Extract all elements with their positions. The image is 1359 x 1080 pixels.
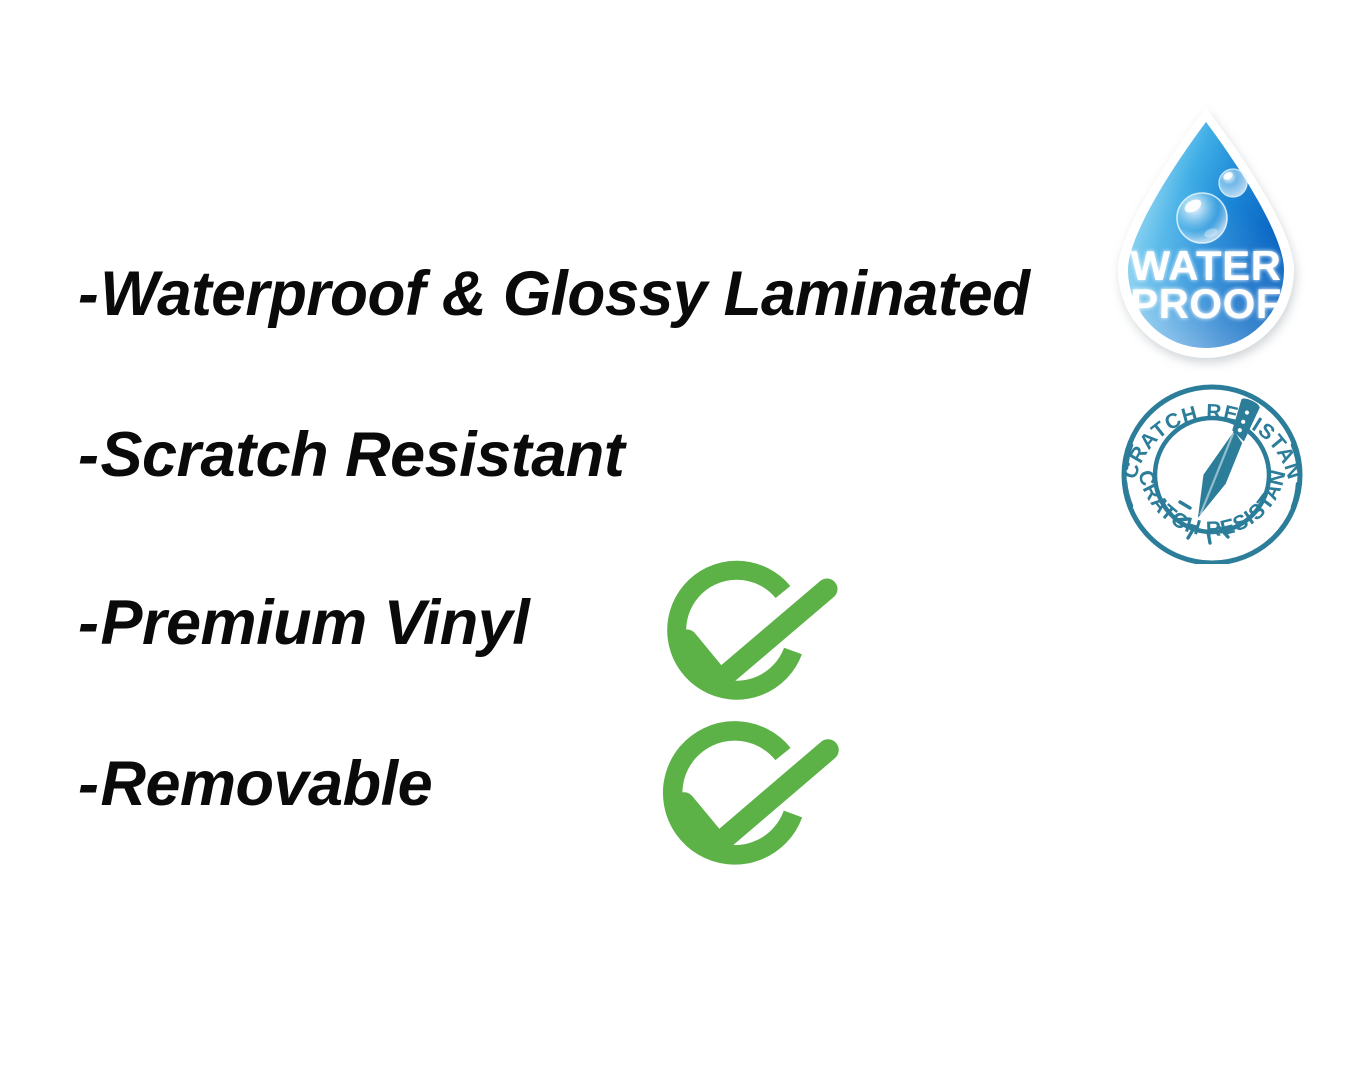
feature-dash: -: [78, 263, 98, 326]
check-circle-icon-1: [641, 558, 841, 716]
feature-label: Premium Vinyl: [100, 588, 529, 658]
check-circle-icon: [641, 558, 841, 716]
scratch-resistant-badge: SCRATCH RESISTANT SCRATCH RESISTANT: [1112, 382, 1312, 564]
feature-label: Waterproof & Glossy Laminated: [100, 259, 1029, 329]
feature-dash: -: [78, 753, 98, 816]
check-mark-stroke: [684, 750, 828, 844]
bubble-large: [1177, 193, 1227, 243]
waterproof-badge: WATER PROOF: [1098, 100, 1314, 372]
waterproof-line2: PROOF: [1130, 280, 1282, 327]
feature-label: Removable: [100, 749, 432, 819]
feature-label: Scratch Resistant: [100, 420, 624, 490]
check-mark-stroke: [687, 589, 827, 680]
check-circle-icon-2: [637, 718, 842, 881]
check-circle-icon: [637, 718, 842, 881]
feature-item-scratch-resistant: -Scratch Resistant: [78, 424, 624, 487]
feature-item-removable: -Removable: [78, 753, 432, 816]
knife-stamp-icon: SCRATCH RESISTANT SCRATCH RESISTANT: [1112, 382, 1312, 564]
feature-graphic-canvas: -Waterproof & Glossy Laminated -Scratch …: [0, 0, 1359, 1080]
water-drop-icon: WATER PROOF: [1098, 100, 1314, 372]
feature-dash: -: [78, 424, 98, 487]
feature-item-premium-vinyl: -Premium Vinyl: [78, 592, 529, 655]
feature-item-waterproof-glossy-laminated: -Waterproof & Glossy Laminated: [78, 263, 1030, 326]
bubble-small: [1219, 169, 1247, 197]
feature-dash: -: [78, 592, 98, 655]
waterproof-text-group: WATER PROOF: [1130, 242, 1282, 327]
